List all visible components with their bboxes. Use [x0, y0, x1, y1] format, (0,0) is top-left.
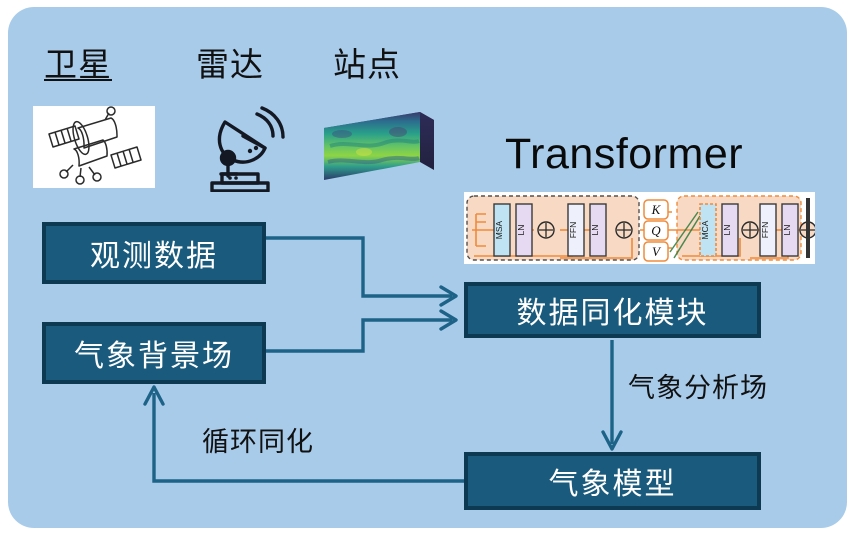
box-background-field[interactable]: 气象背景场	[42, 322, 266, 384]
box-meteorological-model[interactable]: 气象模型	[464, 452, 761, 510]
box-assimilation-module-label: 数据同化模块	[517, 288, 709, 332]
box-observation-data-label: 观测数据	[90, 231, 218, 275]
box-meteorological-model-label: 气象模型	[549, 459, 677, 503]
edge-label-analysis-field: 气象分析场	[628, 366, 768, 405]
edge-label-cycling: 循环同化	[202, 420, 314, 459]
box-assimilation-module[interactable]: 数据同化模块	[464, 282, 761, 338]
box-observation-data[interactable]: 观测数据	[42, 222, 266, 284]
box-background-field-label: 气象背景场	[74, 331, 234, 375]
diagram-canvas: 卫星 雷达 站点	[0, 0, 855, 535]
